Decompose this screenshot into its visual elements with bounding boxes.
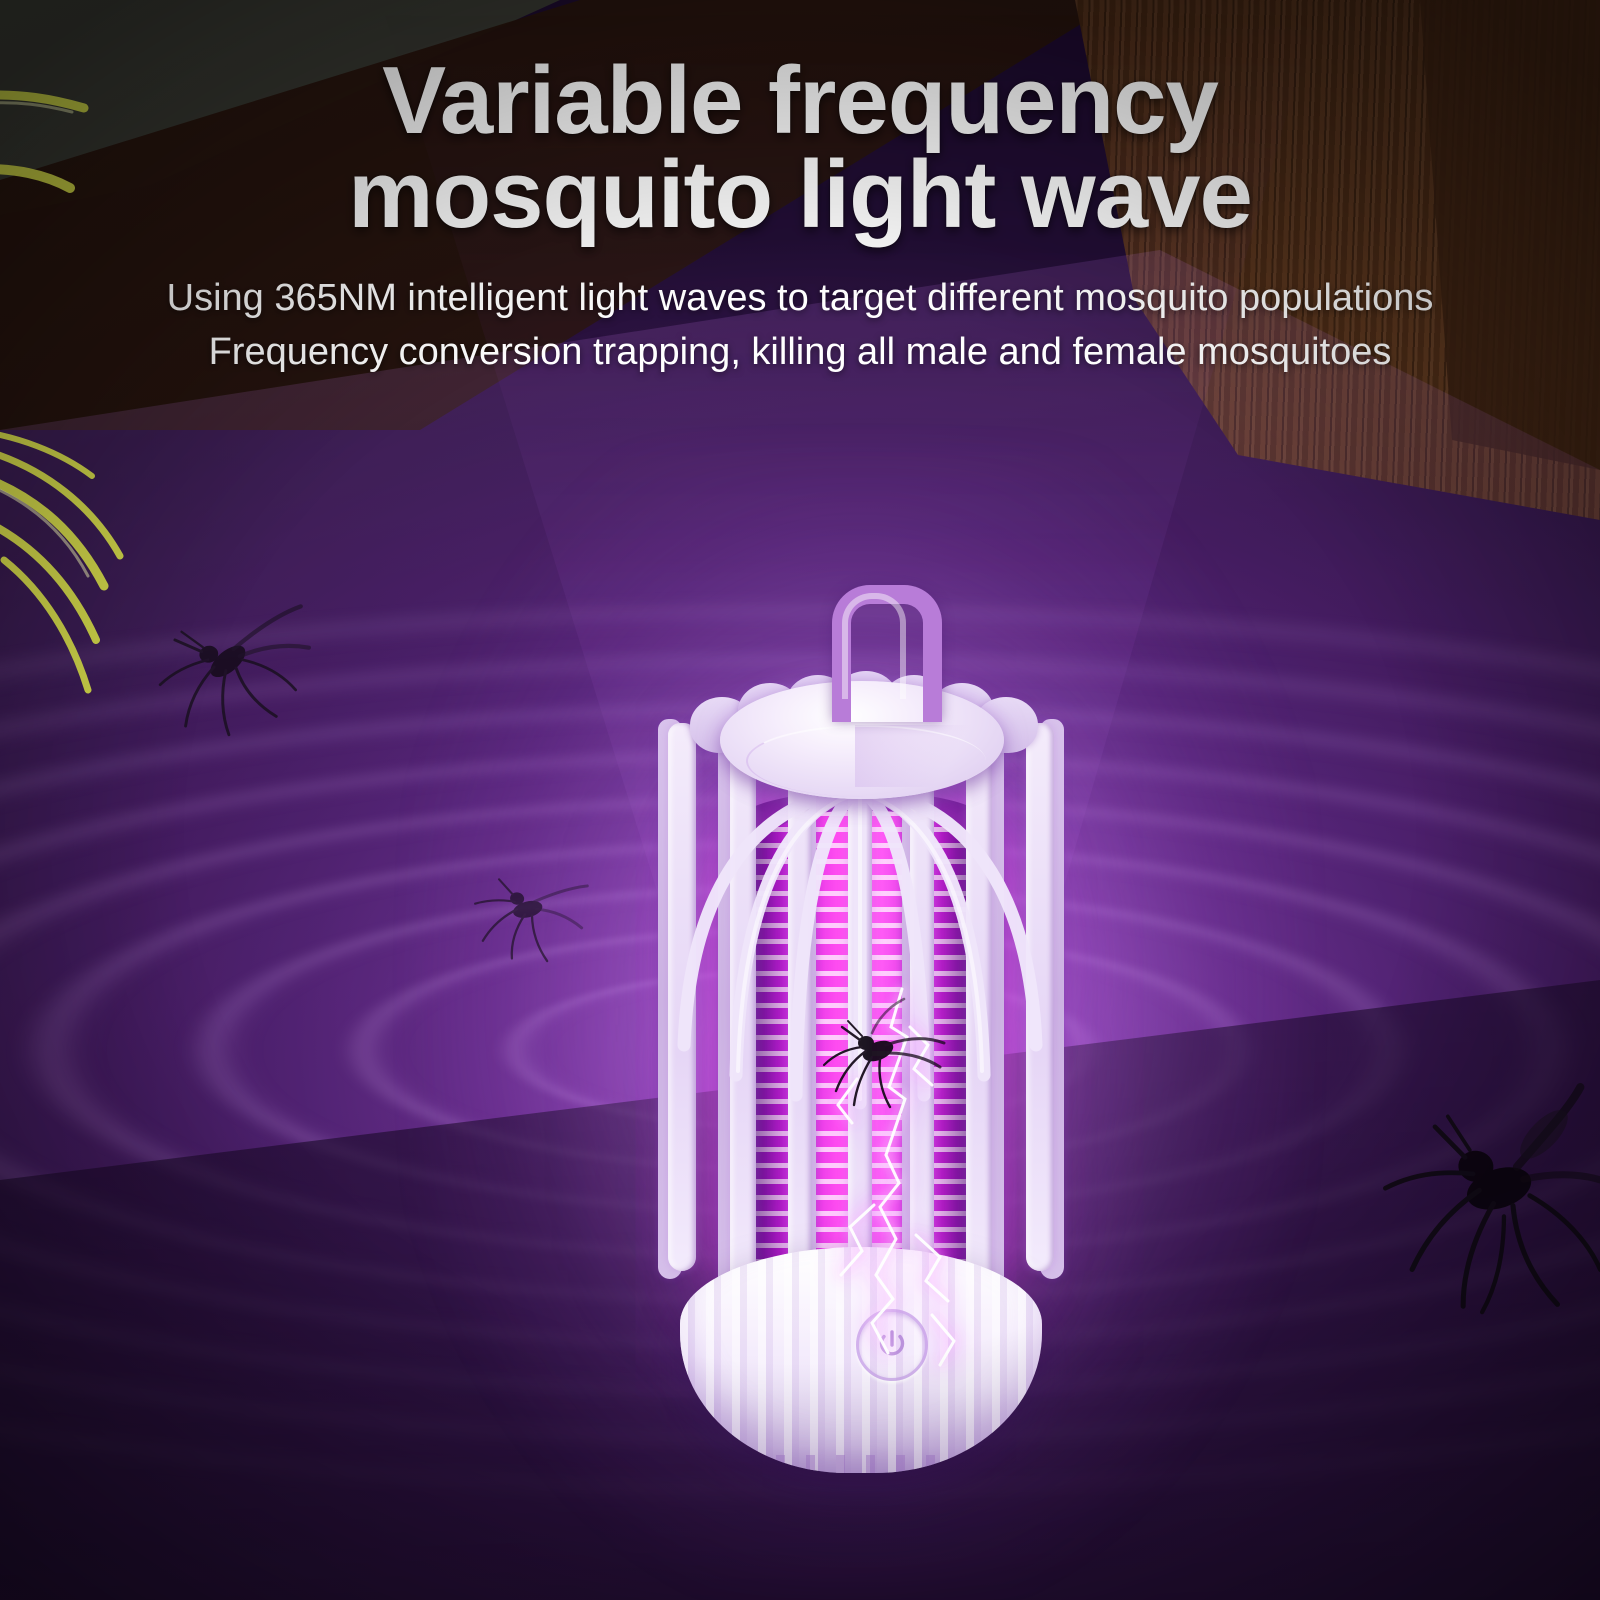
mosquito-mid-left bbox=[467, 867, 589, 969]
subtitle-line-1: Using 365NM intelligent light waves to t… bbox=[0, 272, 1600, 326]
mosquito-right-large bbox=[1374, 1068, 1600, 1324]
title-line-2: mosquito light wave bbox=[0, 148, 1600, 242]
page-title: Variable frequency mosquito light wave bbox=[0, 54, 1600, 242]
product-poster: Variable frequency mosquito light wave U… bbox=[0, 0, 1600, 1600]
mosquito-upper-left bbox=[149, 602, 327, 748]
text-block: Variable frequency mosquito light wave U… bbox=[0, 54, 1600, 380]
subtitle-line-2: Frequency conversion trapping, killing a… bbox=[0, 326, 1600, 380]
subtitle: Using 365NM intelligent light waves to t… bbox=[0, 272, 1600, 380]
title-line-1: Variable frequency bbox=[382, 47, 1218, 154]
